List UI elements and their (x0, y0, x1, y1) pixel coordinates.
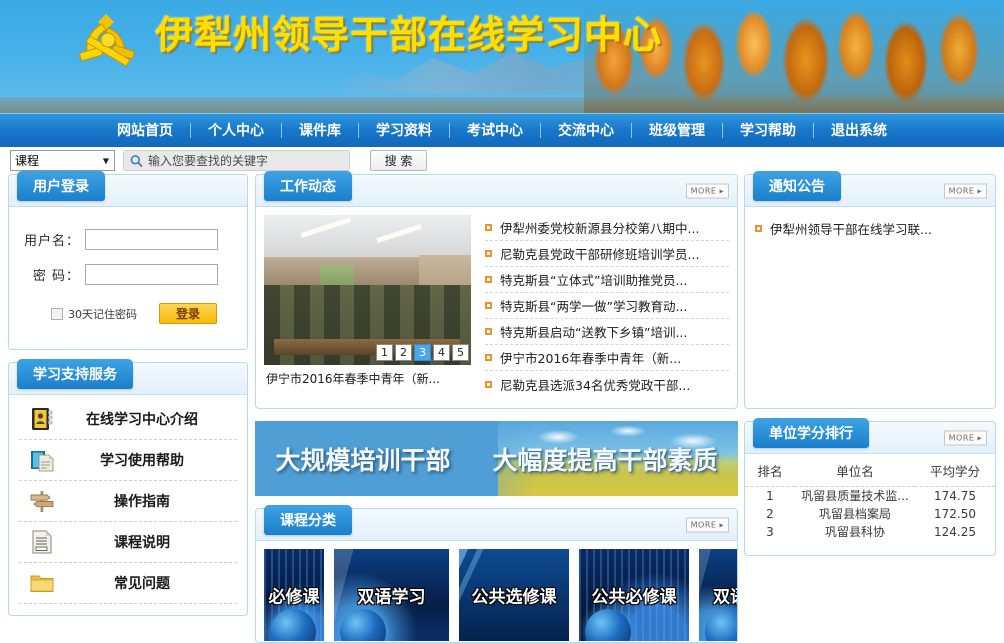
row-unit: 巩留县科协 (795, 523, 915, 541)
row-rank: 1 (745, 487, 795, 506)
news-item[interactable]: 尼勒克县党政干部研修班培训学员... (485, 241, 729, 267)
support-services-panel: 学习支持服务 在线学习中心 (8, 362, 248, 616)
support-services-list: 在线学习中心介绍 学习使用帮助 (9, 395, 247, 604)
pager-page-3[interactable]: 3 (414, 344, 431, 361)
password-label: 密 码： (23, 265, 85, 284)
login-form: 用户名： 密 码： 30天记住密码 登录 (9, 207, 247, 324)
table-row[interactable]: 3 巩留县科协 124.25 (745, 523, 995, 541)
news-item[interactable]: 特克斯县“两学一做”学习教育动... (485, 293, 729, 319)
folder-icon (19, 570, 65, 596)
search-input[interactable]: 输入您要查找的关键字 (123, 150, 350, 171)
bullet-icon (485, 250, 492, 257)
notice-item[interactable]: 伊犁州领导干部在线学习联... (755, 215, 985, 241)
address-book-icon (19, 406, 65, 432)
column-header-avg: 平均学分 (915, 454, 995, 487)
news-item[interactable]: 特克斯县启动“送教下乡镇”培训... (485, 319, 729, 345)
more-label: MORE (691, 186, 717, 195)
work-dynamics-news-list: 伊犁州委党校新源县分校第八期中... 尼勒克县党政干部研修班培训学员... 特克… (471, 215, 729, 397)
search-icon (130, 154, 143, 167)
nav-item-home[interactable]: 网站首页 (100, 115, 190, 147)
support-item-guide[interactable]: 操作指南 (19, 481, 237, 522)
news-item-title: 尼勒克县选派34名优秀党政干部... (500, 375, 690, 394)
right-column: 通知公告 MORE ▸ 伊犁州领导干部在线学习联... 单位学分排行 MORE … (744, 174, 996, 556)
password-field[interactable] (85, 264, 218, 285)
more-label: MORE (691, 520, 717, 529)
course-card[interactable]: 公共选修课 (459, 549, 569, 641)
course-card-label: 双语学习 (334, 583, 449, 608)
ranking-header-row: 排名 单位名 平均学分 (745, 454, 995, 487)
news-item-title: 尼勒克县党政干部研修班培训学员... (500, 244, 699, 263)
nav-item-exchange[interactable]: 交流中心 (541, 115, 631, 147)
nav-item-personal[interactable]: 个人中心 (191, 115, 281, 147)
table-row[interactable]: 2 巩留县档案局 172.50 (745, 505, 995, 523)
login-panel-title: 用户登录 (17, 171, 105, 201)
notice-panel-header: 通知公告 MORE ▸ (745, 175, 995, 207)
news-item[interactable]: 特克斯县“立体式”培训助推党员... (485, 267, 729, 293)
course-category-more-button[interactable]: MORE ▸ (686, 517, 729, 532)
bullet-icon (485, 354, 492, 361)
search-placeholder-text: 输入您要查找的关键字 (148, 152, 268, 169)
row-rank: 2 (745, 505, 795, 523)
notice-panel-title: 通知公告 (753, 171, 841, 201)
news-item[interactable]: 伊宁市2016年春季中青年（新... (485, 345, 729, 371)
mid-promo-banner: 大规模培训干部 大幅度提高干部素质 (255, 421, 738, 496)
row-avg: 172.50 (915, 505, 995, 523)
search-bar: 课程 ▼ 输入您要查找的关键字 搜 索 (0, 147, 1004, 174)
course-category-title: 课程分类 (264, 505, 352, 535)
support-item-intro[interactable]: 在线学习中心介绍 (19, 399, 237, 440)
more-label: MORE (949, 433, 975, 442)
login-button[interactable]: 登录 (159, 303, 217, 324)
more-label: MORE (949, 186, 975, 195)
ranking-more-button[interactable]: MORE ▸ (944, 430, 987, 445)
login-actions: 30天记住密码 登录 (23, 303, 233, 324)
support-item-help[interactable]: 学习使用帮助 (19, 440, 237, 481)
work-dynamics-featured: 1 2 3 4 5 伊宁市2016年春季中青年（新... (264, 215, 471, 397)
bullet-icon (755, 225, 762, 232)
column-header-unit: 单位名 (795, 454, 915, 487)
course-card-label: 双语 (699, 583, 737, 608)
pager-page-4[interactable]: 4 (433, 344, 450, 361)
course-category-panel: 课程分类 MORE ▸ 必修课 双语学习 公共选修课 (255, 508, 738, 643)
news-item-title: 特克斯县“立体式”培训助推党员... (500, 270, 687, 289)
left-column: 用户登录 用户名： 密 码： 30天记住密码 登录 (8, 174, 248, 616)
ranking-panel-header: 单位学分排行 MORE ▸ (745, 422, 995, 454)
username-row: 用户名： (23, 229, 233, 250)
remember-password-label: 30天记住密码 (68, 306, 137, 322)
support-item-faq[interactable]: 常见问题 (19, 563, 237, 604)
nav-item-help[interactable]: 学习帮助 (723, 115, 813, 147)
banner-ground (0, 97, 1004, 113)
column-header-rank: 排名 (745, 454, 795, 487)
remember-password-checkbox[interactable] (51, 308, 63, 320)
nav-item-exam[interactable]: 考试中心 (450, 115, 540, 147)
news-item[interactable]: 尼勒克县选派34名优秀党政干部... (485, 371, 729, 397)
work-dynamics-title: 工作动态 (264, 171, 352, 201)
chevron-down-icon: ▼ (103, 156, 109, 165)
row-unit: 巩留县档案局 (795, 505, 915, 523)
ranking-table-body: 1 巩留县质量技术监... 174.75 2 巩留县档案局 172.50 3 巩… (745, 487, 995, 542)
password-row: 密 码： (23, 264, 233, 285)
site-header-banner: 伊犁州领导干部在线学习中心 (0, 0, 1004, 113)
party-emblem-icon (70, 8, 144, 70)
main-navigation: 网站首页 个人中心 课件库 学习资料 考试中心 交流中心 班级管理 学习帮助 退… (0, 113, 1004, 147)
search-button[interactable]: 搜 索 (370, 150, 427, 171)
news-item[interactable]: 伊犁州委党校新源县分校第八期中... (485, 215, 729, 241)
news-item-title: 伊宁市2016年春季中青年（新... (500, 348, 681, 367)
work-dynamics-more-button[interactable]: MORE ▸ (686, 183, 729, 198)
nav-item-materials[interactable]: 学习资料 (359, 115, 449, 147)
bullet-icon (485, 224, 492, 231)
photo-ceiling (264, 215, 471, 257)
course-card[interactable]: 双语学习 (334, 549, 449, 641)
document-icon (19, 529, 65, 555)
username-field[interactable] (85, 229, 218, 250)
site-title: 伊犁州领导干部在线学习中心 (155, 4, 662, 59)
support-panel-title: 学习支持服务 (17, 359, 133, 389)
news-item-title: 伊犁州委党校新源县分校第八期中... (500, 218, 699, 237)
course-card[interactable]: 必修课 (264, 549, 324, 641)
pager-page-2[interactable]: 2 (395, 344, 412, 361)
course-category-strip: 必修课 双语学习 公共选修课 公共必修课 (256, 541, 737, 641)
row-avg: 124.25 (915, 523, 995, 541)
support-item-course-desc[interactable]: 课程说明 (19, 522, 237, 563)
unit-credit-ranking-panel: 单位学分排行 MORE ▸ 排名 单位名 平均学分 1 巩留县质量技术监.. (744, 421, 996, 556)
banner-slogan-line1: 大规模培训干部 (275, 441, 450, 477)
support-item-label: 常见问题 (65, 573, 237, 593)
ranking-table-head: 排名 单位名 平均学分 (745, 454, 995, 487)
course-card-label: 必修课 (264, 583, 324, 608)
support-item-label: 操作指南 (65, 491, 237, 511)
username-label: 用户名： (23, 230, 85, 249)
work-dynamics-panel: 工作动态 MORE ▸ 1 (255, 174, 738, 409)
ranking-panel-title: 单位学分排行 (753, 418, 869, 448)
notice-list: 伊犁州领导干部在线学习联... (745, 207, 995, 241)
notice-panel: 通知公告 MORE ▸ 伊犁州领导干部在线学习联... (744, 174, 996, 409)
nav-item-logout[interactable]: 退出系统 (814, 115, 904, 147)
course-category-header: 课程分类 MORE ▸ (256, 509, 737, 541)
work-dynamics-header: 工作动态 MORE ▸ (256, 175, 737, 207)
table-row[interactable]: 1 巩留县质量技术监... 174.75 (745, 487, 995, 506)
bullet-icon (485, 276, 492, 283)
support-item-label: 在线学习中心介绍 (65, 409, 237, 429)
bullet-icon (485, 302, 492, 309)
featured-photo[interactable]: 1 2 3 4 5 (264, 215, 471, 365)
news-item-title: 特克斯县启动“送教下乡镇”培训... (500, 322, 687, 341)
bullet-icon (485, 381, 492, 388)
center-column: 工作动态 MORE ▸ 1 (255, 174, 738, 643)
login-panel: 用户登录 用户名： 密 码： 30天记住密码 登录 (8, 174, 248, 350)
course-card[interactable]: 双语 (699, 549, 737, 641)
row-rank: 3 (745, 523, 795, 541)
signpost-icon (19, 488, 65, 514)
pager-page-1[interactable]: 1 (376, 344, 393, 361)
support-item-label: 课程说明 (65, 532, 237, 552)
photo-pager: 1 2 3 4 5 (376, 344, 469, 361)
nav-item-class[interactable]: 班级管理 (632, 115, 722, 147)
banner-slogan: 大规模培训干部 大幅度提高干部素质 (255, 441, 738, 477)
support-item-label: 学习使用帮助 (65, 450, 237, 470)
notice-more-button[interactable]: MORE ▸ (944, 183, 987, 198)
news-item-title: 特克斯县“两学一做”学习教育动... (500, 296, 687, 315)
course-card-label: 公共必修课 (579, 583, 689, 608)
main-content: 用户登录 用户名： 密 码： 30天记住密码 登录 (0, 174, 1004, 643)
book-document-icon (19, 447, 65, 473)
notice-item-title: 伊犁州领导干部在线学习联... (770, 219, 932, 238)
banner-slogan-line2: 大幅度提高干部素质 (493, 441, 718, 477)
course-card-label: 公共选修课 (459, 583, 569, 608)
row-unit: 巩留县质量技术监... (795, 487, 915, 506)
bullet-icon (485, 328, 492, 335)
nav-item-courseware[interactable]: 课件库 (282, 115, 358, 147)
search-category-value: 课程 (11, 152, 39, 169)
featured-photo-caption[interactable]: 伊宁市2016年春季中青年（新... (264, 365, 471, 387)
row-avg: 174.75 (915, 487, 995, 506)
search-category-select[interactable]: 课程 ▼ (10, 150, 115, 171)
support-panel-header: 学习支持服务 (9, 363, 247, 395)
ranking-table: 排名 单位名 平均学分 1 巩留县质量技术监... 174.75 2 巩留县档案… (745, 454, 995, 541)
login-panel-header: 用户登录 (9, 175, 247, 207)
course-card[interactable]: 公共必修课 (579, 549, 689, 641)
work-dynamics-body: 1 2 3 4 5 伊宁市2016年春季中青年（新... 伊犁州委党校新源县分校… (256, 207, 737, 397)
pager-page-5[interactable]: 5 (452, 344, 469, 361)
